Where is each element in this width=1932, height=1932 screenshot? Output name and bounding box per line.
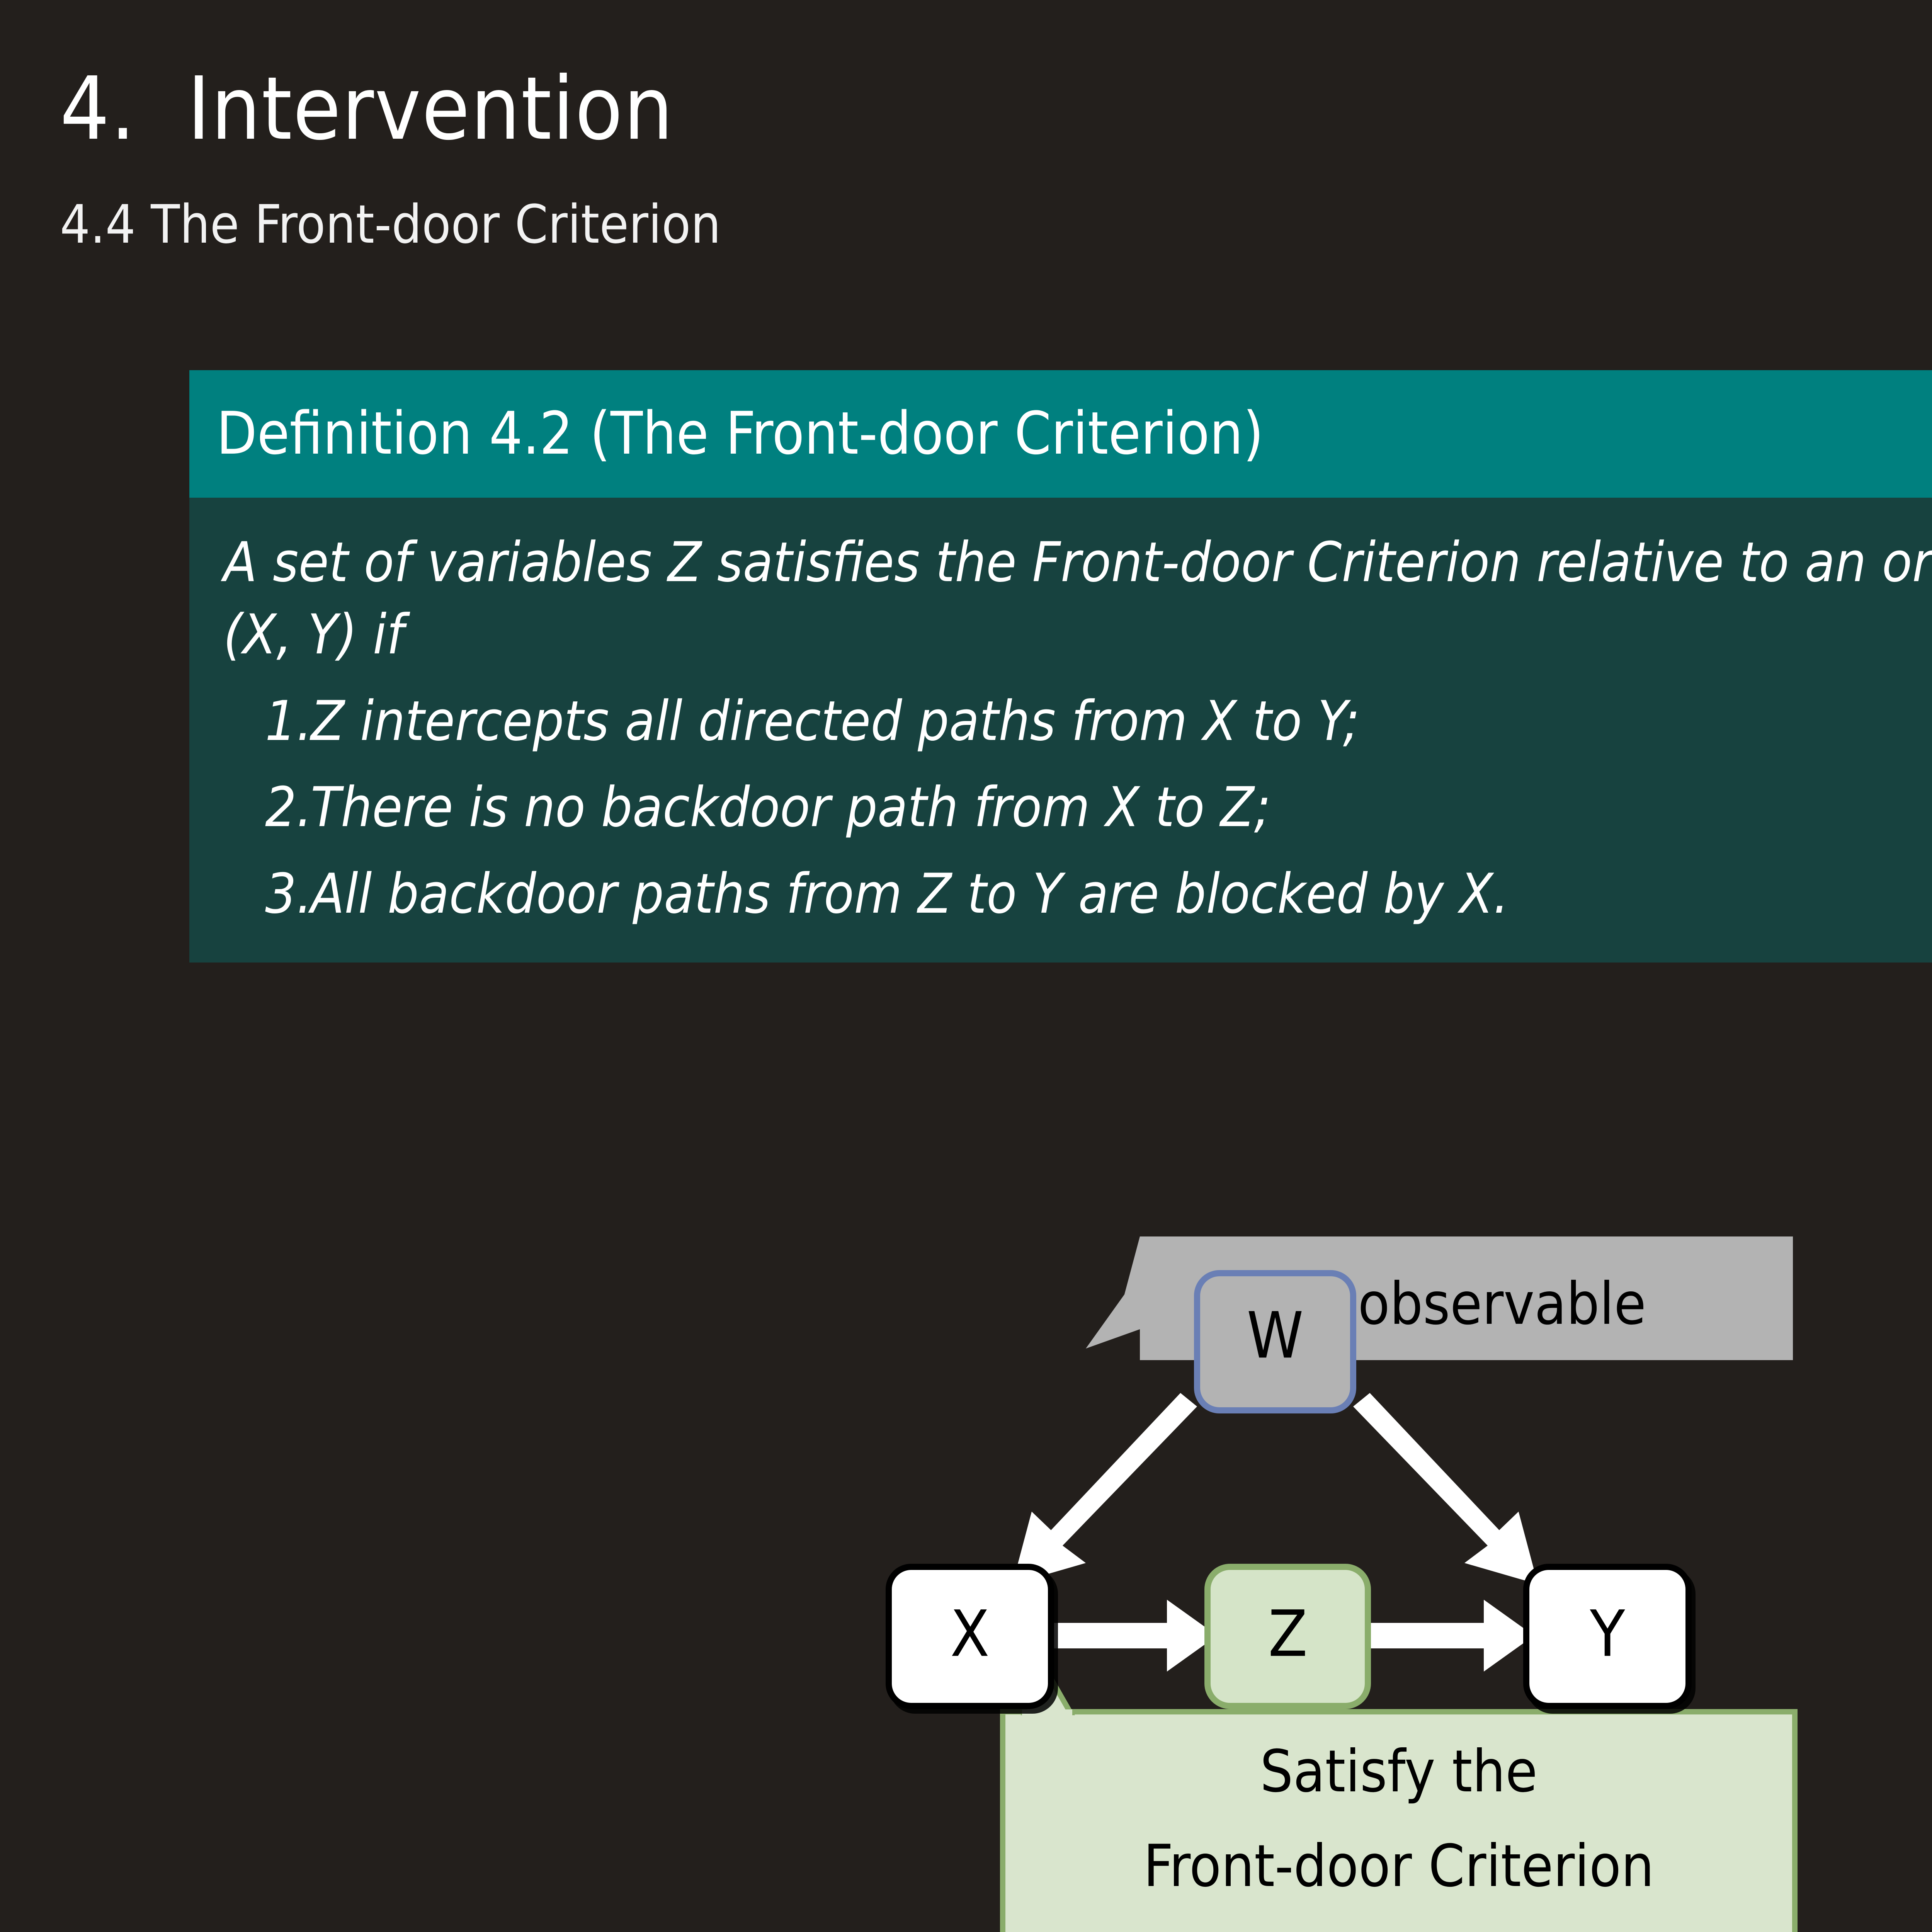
list-item-number: 1. <box>265 685 311 757</box>
callout-satisfy-line1: Satisfy the <box>1260 1738 1537 1805</box>
node-z-label: Z <box>1268 1597 1308 1671</box>
causal-diagram: Unobservable Satisfy the Front-door Crit… <box>869 1236 1932 1932</box>
list-item-number: 2. <box>265 771 311 844</box>
slide-header: 4. Intervention 4.4 The Front-door Crite… <box>60 66 1932 251</box>
node-w[interactable]: W <box>1197 1273 1353 1410</box>
edge-w-to-x-arrow <box>1012 1393 1197 1584</box>
edge-x-to-z <box>1051 1600 1217 1672</box>
definition-block: Definition 4.2 (The Front-door Criterion… <box>189 370 1932 963</box>
edge-z-to-y-arrow <box>1368 1600 1534 1672</box>
node-x[interactable]: X <box>889 1567 1051 1706</box>
list-item-text: Z intercepts all directed paths from X t… <box>311 685 1932 757</box>
list-item: 2. There is no backdoor path from X to Z… <box>223 771 1932 844</box>
edge-x-to-z-arrow <box>1051 1600 1217 1672</box>
list-item: 1. Z intercepts all directed paths from … <box>223 685 1932 757</box>
edge-w-to-y-arrow <box>1353 1393 1538 1584</box>
definition-body: A set of variables Z satisfies the Front… <box>189 498 1932 963</box>
definition-criteria-list: 1. Z intercepts all directed paths from … <box>223 685 1932 930</box>
edge-w-to-x <box>1012 1393 1197 1584</box>
node-w-label: W <box>1247 1298 1304 1372</box>
slide-canvas: 4. Intervention 4.4 The Front-door Crite… <box>0 0 1932 1932</box>
node-y-label: Y <box>1590 1597 1626 1671</box>
node-x-label: X <box>950 1597 990 1671</box>
node-z[interactable]: Z <box>1207 1567 1368 1706</box>
list-item: 3. All backdoor paths from Z to Y are bl… <box>223 858 1932 930</box>
callout-tail-join <box>1022 1709 1072 1717</box>
page-subtitle: 4.4 The Front-door Criterion <box>60 198 1932 251</box>
list-item-text: All backdoor paths from Z to Y are block… <box>311 858 1932 930</box>
edge-w-to-y <box>1353 1393 1538 1584</box>
edge-z-to-y <box>1368 1600 1534 1672</box>
page-title: 4. Intervention <box>60 66 1932 153</box>
list-item-number: 3. <box>265 858 311 930</box>
definition-header: Definition 4.2 (The Front-door Criterion… <box>189 370 1932 498</box>
definition-intro: A set of variables Z satisfies the Front… <box>223 526 1932 671</box>
list-item-text: There is no backdoor path from X to Z; <box>311 771 1932 844</box>
callout-satisfy-line2: Front-door Criterion <box>1143 1833 1654 1900</box>
callout-unobservable: Unobservable <box>1086 1236 1793 1360</box>
node-y[interactable]: Y <box>1526 1567 1689 1706</box>
